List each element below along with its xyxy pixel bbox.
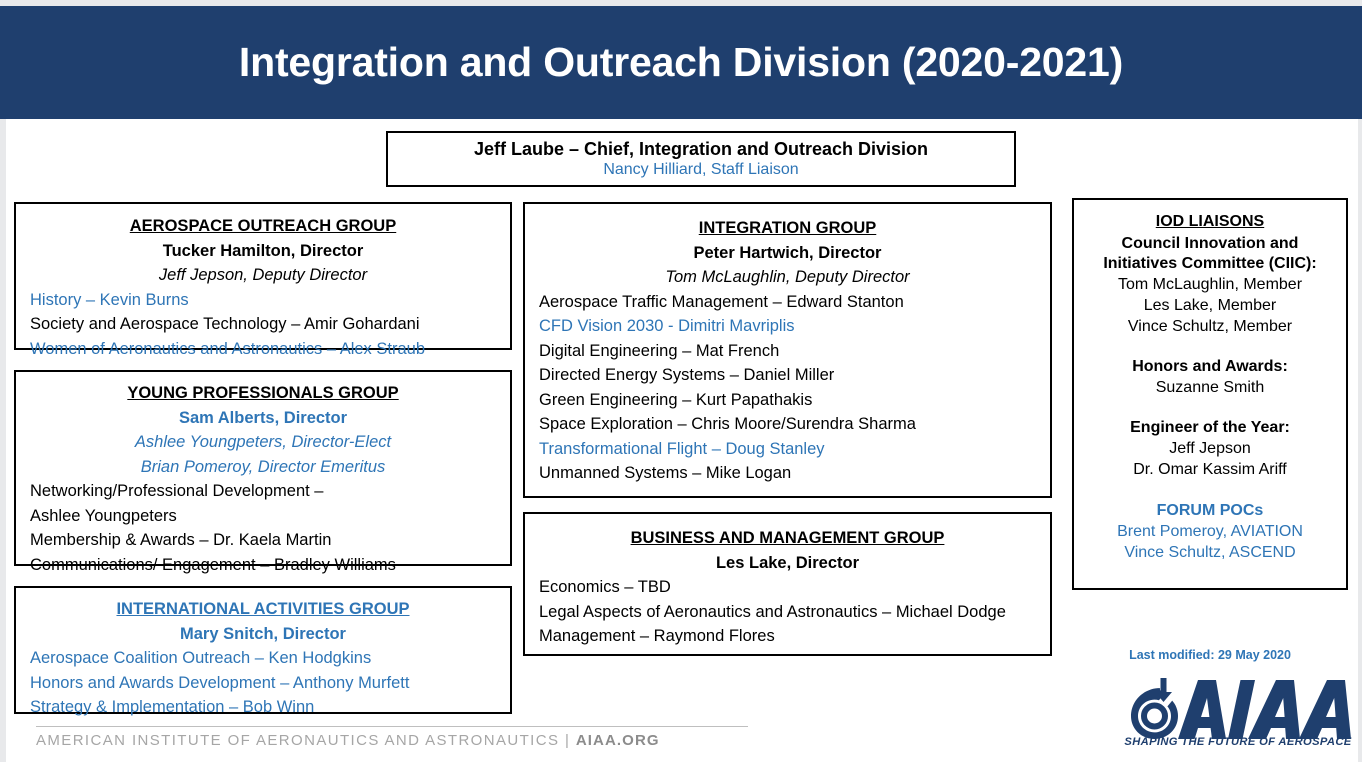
- group-member-row: CFD Vision 2030 - Dimitri Mavriplis: [539, 314, 1036, 339]
- liaison-member-row: Les Lake, Member: [1082, 295, 1338, 316]
- group-deputy-integration: Tom McLaughlin, Deputy Director: [539, 265, 1036, 290]
- group-member-row: Space Exploration – Chris Moore/Surendra…: [539, 412, 1036, 437]
- group-member-row: Communications/ Engagement – Bradley Wil…: [30, 553, 496, 578]
- slide-canvas: Integration and Outreach Division (2020-…: [0, 0, 1362, 762]
- liaison-member-row: Tom McLaughlin, Member: [1082, 274, 1338, 295]
- group-member-row: Green Engineering – Kurt Papathakis: [539, 388, 1036, 413]
- group-member-row: Strategy & Implementation – Bob Winn: [30, 695, 496, 720]
- group-director-aerospace-outreach: Tucker Hamilton, Director: [30, 239, 496, 264]
- group-member-row: Membership & Awards – Dr. Kaela Martin: [30, 528, 496, 553]
- group-director-business-management: Les Lake, Director: [539, 551, 1036, 576]
- iod-liaisons-box: IOD LIAISONS Council Innovation and Init…: [1072, 198, 1348, 590]
- spacer: [1082, 480, 1338, 500]
- aiaa-logo: SHAPING THE FUTURE OF AEROSPACE: [1116, 672, 1360, 746]
- spacer: [1082, 398, 1338, 418]
- engineer-of-the-year-heading: Engineer of the Year:: [1082, 418, 1338, 438]
- staff-liaison-name: Nancy Hilliard, Staff Liaison: [603, 160, 798, 180]
- group-member-row: History – Kevin Burns: [30, 288, 496, 313]
- footer-separator: |: [565, 732, 570, 749]
- group-box-young-professionals: YOUNG PROFESSIONALS GROUP Sam Alberts, D…: [14, 370, 512, 566]
- liaison-member-row: Vince Schultz, Member: [1082, 316, 1338, 337]
- liaison-member-row: Dr. Omar Kassim Ariff: [1082, 459, 1338, 480]
- group-box-integration: INTEGRATION GROUP Peter Hartwich, Direct…: [523, 202, 1052, 498]
- liaison-member-row: Vince Schultz, ASCEND: [1082, 542, 1338, 563]
- group-member-row: Ashlee Youngpeters: [30, 504, 496, 529]
- group-member-row: Management – Raymond Flores: [539, 624, 1036, 649]
- group-member-row: Unmanned Systems – Mike Logan: [539, 461, 1036, 486]
- division-chief-box: Jeff Laube – Chief, Integration and Outr…: [386, 131, 1016, 187]
- ciic-heading-line1: Council Innovation and: [1082, 234, 1338, 254]
- group-director-elect-young-professionals: Ashlee Youngpeters, Director-Elect: [30, 430, 496, 455]
- group-title-young-professionals: YOUNG PROFESSIONALS GROUP: [30, 381, 496, 406]
- group-member-row: Transformational Flight – Doug Stanley: [539, 437, 1036, 462]
- group-member-row: Aerospace Traffic Management – Edward St…: [539, 290, 1036, 315]
- group-director-emeritus-young-professionals: Brian Pomeroy, Director Emeritus: [30, 455, 496, 480]
- group-box-business-management: BUSINESS AND MANAGEMENT GROUP Les Lake, …: [523, 512, 1052, 656]
- spacer: [1082, 337, 1338, 357]
- group-member-row: Networking/Professional Development –: [30, 479, 496, 504]
- group-box-aerospace-outreach: AEROSPACE OUTREACH GROUP Tucker Hamilton…: [14, 202, 512, 350]
- iod-liaisons-title: IOD LIAISONS: [1082, 210, 1338, 234]
- group-title-aerospace-outreach: AEROSPACE OUTREACH GROUP: [30, 214, 496, 239]
- honors-awards-heading: Honors and Awards:: [1082, 357, 1338, 377]
- group-title-business-management: BUSINESS AND MANAGEMENT GROUP: [539, 526, 1036, 551]
- forum-pocs-heading: FORUM POCs: [1082, 500, 1338, 521]
- page-title: Integration and Outreach Division (2020-…: [239, 41, 1123, 84]
- last-modified-text: Last modified: 29 May 2020: [1072, 648, 1348, 662]
- group-title-international-activities: INTERNATIONAL ACTIVITIES GROUP: [30, 597, 496, 622]
- liaison-member-row: Brent Pomeroy, AVIATION: [1082, 521, 1338, 542]
- footer-divider: [36, 726, 748, 727]
- group-box-international-activities: INTERNATIONAL ACTIVITIES GROUP Mary Snit…: [14, 586, 512, 714]
- group-member-row: Digital Engineering – Mat French: [539, 339, 1036, 364]
- group-director-international-activities: Mary Snitch, Director: [30, 622, 496, 647]
- group-member-row: Society and Aerospace Technology – Amir …: [30, 312, 496, 337]
- group-director-integration: Peter Hartwich, Director: [539, 241, 1036, 266]
- group-member-row: Women of Aeronautics and Astronautics – …: [30, 337, 496, 362]
- group-member-row: Honors and Awards Development – Anthony …: [30, 671, 496, 696]
- liaison-member-row: Jeff Jepson: [1082, 438, 1338, 459]
- division-chief-name: Jeff Laube – Chief, Integration and Outr…: [474, 138, 928, 161]
- group-director-young-professionals: Sam Alberts, Director: [30, 406, 496, 431]
- group-member-row: Directed Energy Systems – Daniel Miller: [539, 363, 1036, 388]
- group-member-row: Economics – TBD: [539, 575, 1036, 600]
- group-deputy-aerospace-outreach: Jeff Jepson, Deputy Director: [30, 263, 496, 288]
- group-member-row: Aerospace Coalition Outreach – Ken Hodgk…: [30, 646, 496, 671]
- footer-website: AIAA.ORG: [576, 732, 660, 749]
- footer-org-name: AMERICAN INSTITUTE OF AERONAUTICS AND AS…: [36, 732, 559, 749]
- slide-header-banner: Integration and Outreach Division (2020-…: [0, 6, 1362, 119]
- group-member-row: Legal Aspects of Aeronautics and Astrona…: [539, 600, 1036, 625]
- group-title-integration: INTEGRATION GROUP: [539, 216, 1036, 241]
- liaison-member-row: Suzanne Smith: [1082, 377, 1338, 398]
- footer-org-line: AMERICAN INSTITUTE OF AERONAUTICS AND AS…: [36, 732, 796, 749]
- aiaa-logo-tagline: SHAPING THE FUTURE OF AEROSPACE: [1124, 736, 1351, 746]
- aiaa-logo-mark: SHAPING THE FUTURE OF AEROSPACE: [1116, 672, 1360, 746]
- ciic-heading-line2: Initiatives Committee (CIIC):: [1082, 254, 1338, 274]
